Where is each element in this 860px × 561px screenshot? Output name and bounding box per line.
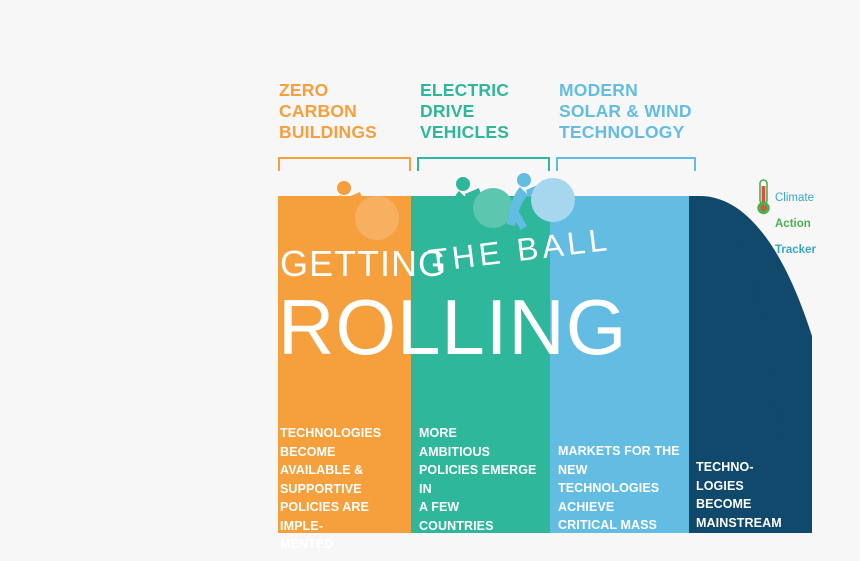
climate-action-tracker-logo: Climate Action Tracker bbox=[754, 178, 840, 220]
figures-pushing-ball-illustration bbox=[300, 168, 580, 243]
logo-line-climate: Climate bbox=[775, 192, 816, 205]
stage-caption-3: MARKETS FOR THE NEW TECHNOLOGIES ACHIEVE… bbox=[558, 442, 688, 535]
figure-orange bbox=[326, 181, 362, 236]
stage-caption-4: TECHNO- LOGIES BECOME MAINSTREAM bbox=[696, 458, 814, 532]
stage-caption-2: MORE AMBITIOUS POLICIES EMERGE IN A FEW … bbox=[419, 424, 549, 535]
logo-line-tracker: Tracker bbox=[775, 244, 816, 257]
infographic-root: ZERO CARBON BUILDINGS ELECTRIC DRIVE VEH… bbox=[0, 0, 860, 561]
ball-orange bbox=[355, 196, 399, 240]
logo-line-action: Action bbox=[775, 218, 816, 231]
ball-green bbox=[473, 188, 513, 228]
stage-caption-1: TECHNOLOGIES BECOME AVAILABLE & SUPPORTI… bbox=[280, 424, 410, 554]
ball-blue bbox=[531, 178, 575, 222]
category-label-modern-solar-wind-technology: MODERN SOLAR & WIND TECHNOLOGY bbox=[559, 80, 692, 143]
category-label-zero-carbon-buildings: ZERO CARBON BUILDINGS bbox=[279, 80, 377, 143]
category-label-electric-drive-vehicles: ELECTRIC DRIVE VEHICLES bbox=[420, 80, 509, 143]
thermometer-icon bbox=[754, 178, 774, 218]
